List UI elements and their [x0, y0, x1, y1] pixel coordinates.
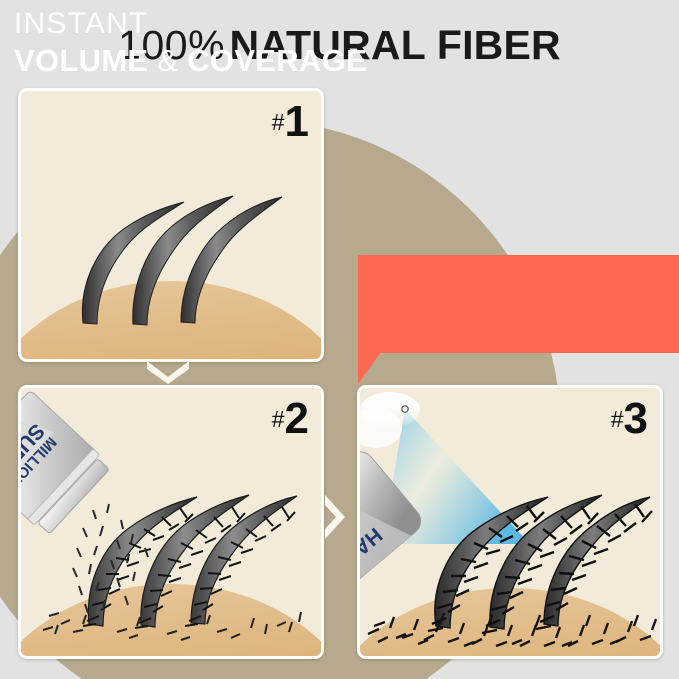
- chevron-down-icon: [144, 357, 192, 384]
- step-digit-1: 1: [285, 97, 309, 146]
- infographic-canvas: 100% NATURAL FIBER #1: [0, 0, 679, 679]
- callout-banner-tail: [358, 352, 381, 384]
- step-number-1: #1: [272, 97, 309, 147]
- callout-line-instant: INSTANT: [14, 9, 367, 39]
- step-panel-1: #1: [18, 88, 324, 362]
- callout-banner-text: INSTANT VOLUME & COVERAGE: [14, 9, 367, 76]
- step-panel-2: SUPER MILLION #2: [18, 385, 324, 659]
- step-digit-2: 2: [285, 394, 309, 443]
- callout-coverage: COVERAGE: [187, 43, 367, 78]
- callout-ampersand: &: [148, 43, 187, 78]
- callout-line-volume-coverage: VOLUME & COVERAGE: [14, 45, 367, 76]
- step-hash-2: #: [272, 406, 285, 432]
- chevron-right-icon: [321, 492, 349, 542]
- step-hash-3: #: [611, 406, 624, 432]
- step-panel-3: SUPER HAIR: [357, 385, 663, 659]
- step-hash-1: #: [272, 109, 285, 135]
- step-digit-3: 3: [624, 394, 648, 443]
- step-number-2: #2: [272, 394, 309, 444]
- callout-volume: VOLUME: [14, 43, 148, 78]
- step-number-3: #3: [611, 394, 648, 444]
- callout-banner: [358, 255, 679, 353]
